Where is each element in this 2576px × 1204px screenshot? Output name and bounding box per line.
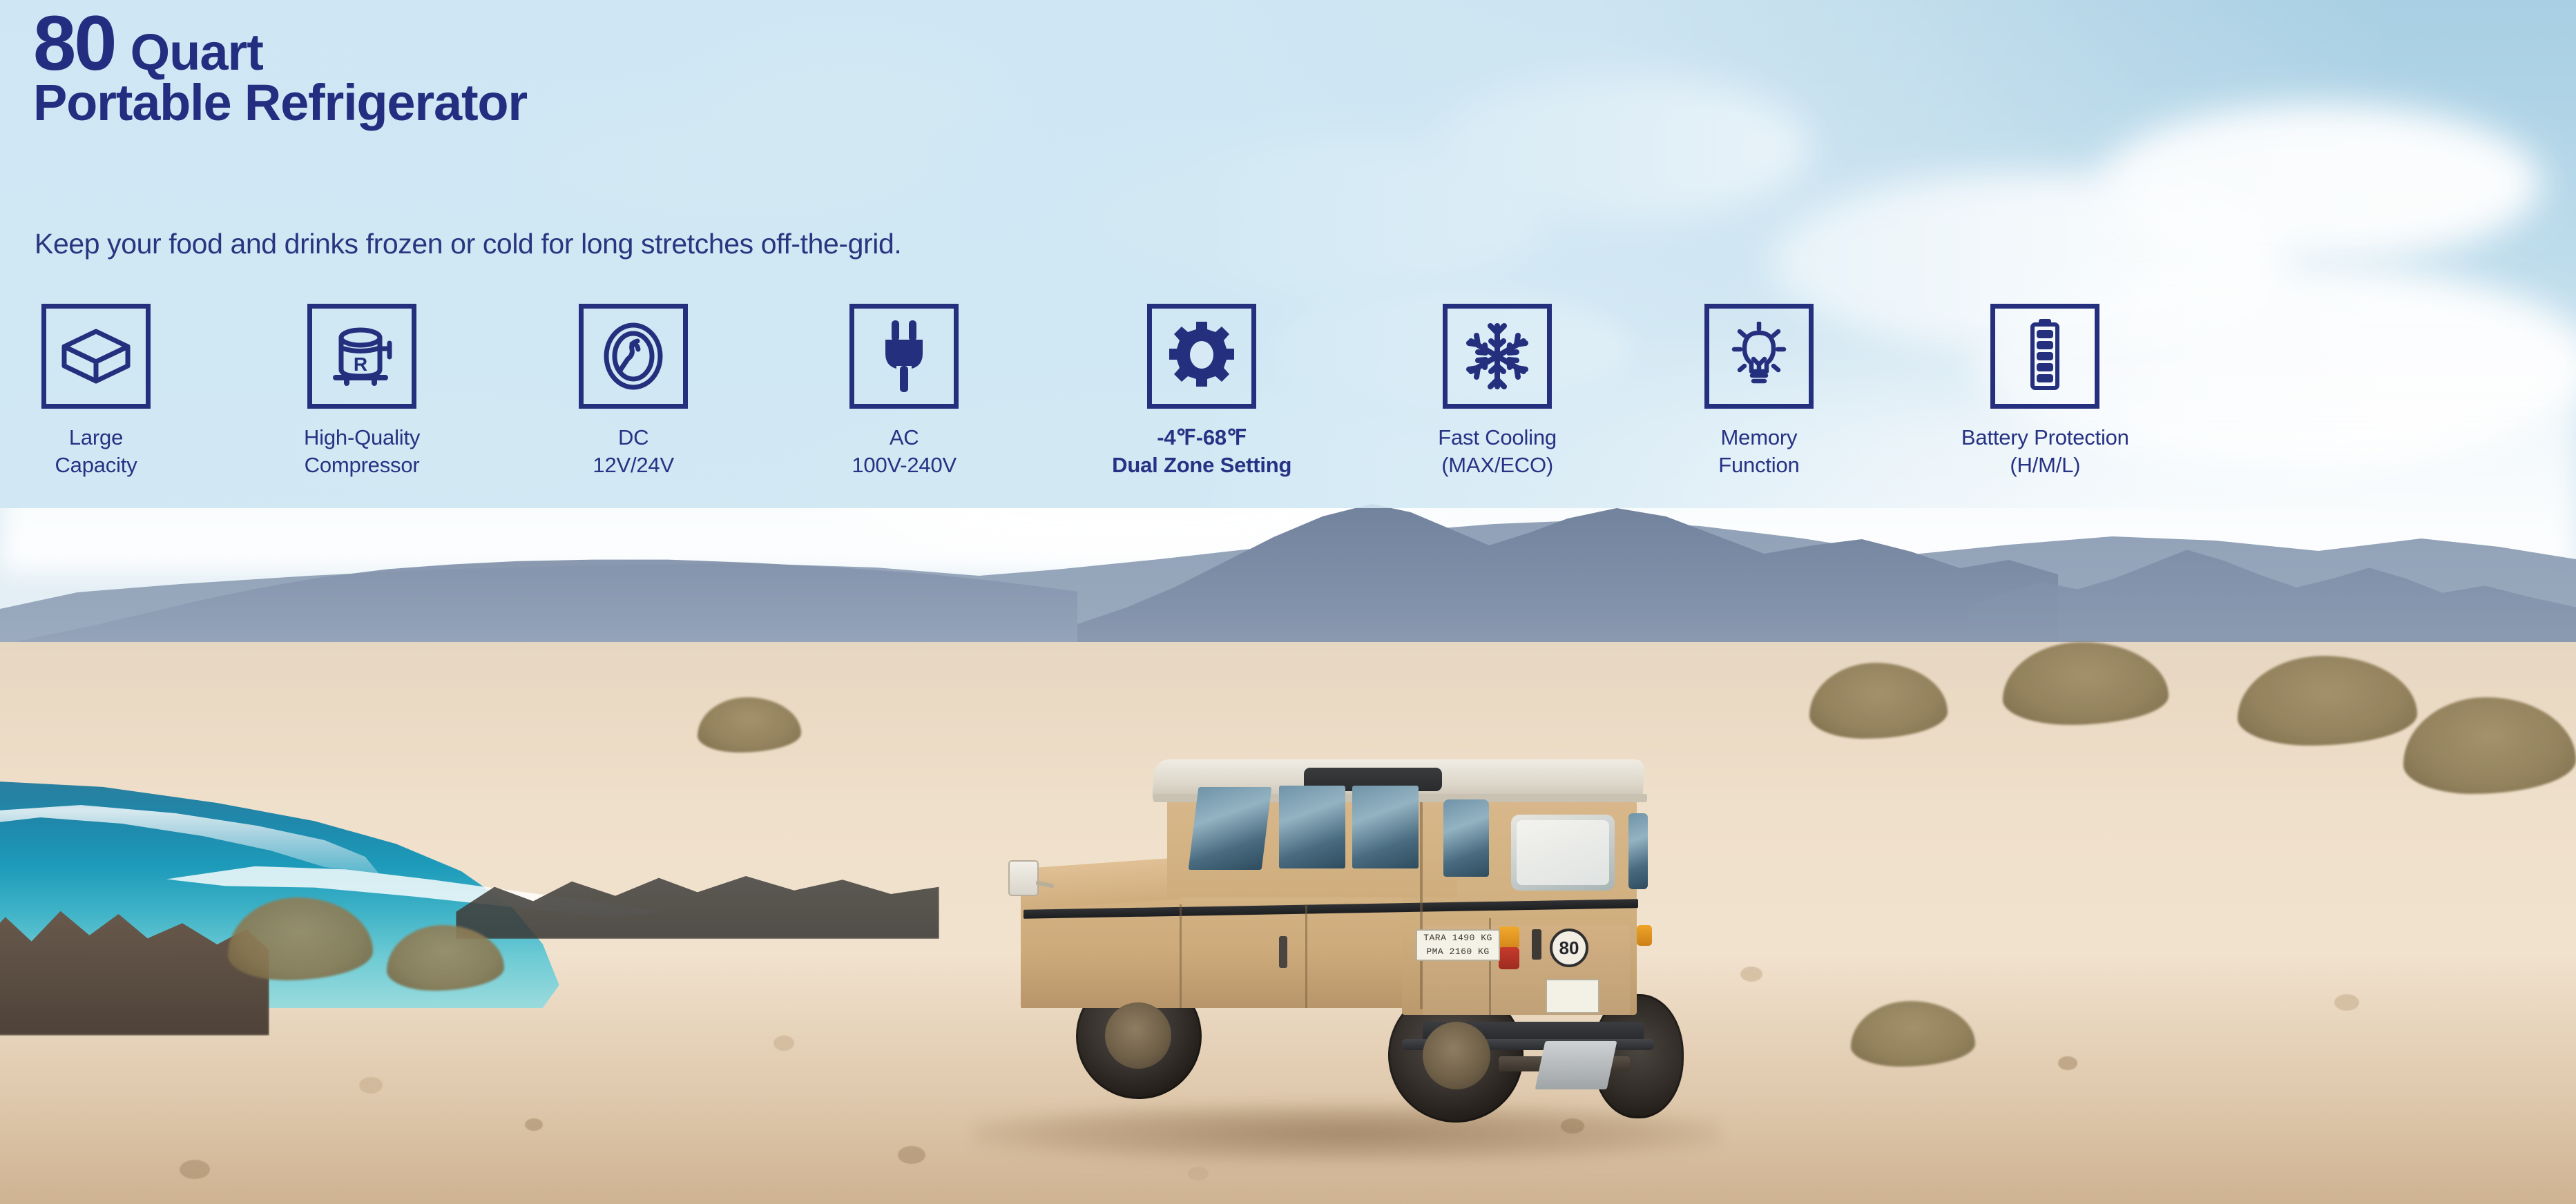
window: [1189, 787, 1272, 870]
feature-label: DC 12V/24V: [593, 424, 674, 478]
side-mirror: [1008, 860, 1039, 896]
mud-flap: [1535, 1041, 1617, 1089]
window: [1628, 813, 1648, 889]
rear-side-window: [1511, 815, 1615, 891]
temperature-range: -4℉-68℉ Dual Zone Setting: [1112, 425, 1291, 477]
feature-label: Large Capacity: [55, 424, 137, 478]
speed-limit-badge: 80: [1550, 929, 1588, 967]
feature-ac-power: AC 100V-240V: [849, 304, 959, 478]
rear-blank-plate: [1546, 979, 1599, 1013]
svg-text:R: R: [354, 353, 367, 375]
tail-lamp: [1499, 947, 1519, 969]
feature-row: Large Capacity R High-Quality Compressor: [0, 304, 2210, 497]
feature-label: Memory Function: [1718, 424, 1799, 478]
capacity-unit: Quart: [131, 26, 263, 78]
feature-battery-protection: Battery Protection (H/M/L): [1961, 304, 2129, 478]
lightbulb-icon: [1704, 304, 1814, 409]
feature-label: -4℉-68℉ Dual Zone Setting: [1112, 424, 1291, 478]
feature-label: Fast Cooling (MAX/ECO): [1438, 424, 1557, 478]
product-title: Portable Refrigerator: [33, 75, 527, 130]
capacity-number: 80: [33, 4, 115, 83]
turn-signal-lamp: [1499, 926, 1519, 949]
window: [1352, 786, 1419, 868]
vehicle-shadow: [974, 1103, 1720, 1163]
turn-signal-lamp: [1637, 925, 1652, 946]
plate-line-1: TARA 1490 KG: [1423, 933, 1492, 943]
feature-label: Battery Protection (H/M/L): [1961, 424, 2129, 478]
feature-large-capacity: Large Capacity: [41, 304, 151, 478]
front-hubcap: [1105, 1002, 1171, 1069]
feature-dc-power: DC 12V/24V: [579, 304, 688, 478]
battery-icon: [1990, 304, 2099, 409]
feature-compressor: R High-Quality Compressor: [304, 304, 420, 478]
feature-fast-cooling: Fast Cooling (MAX/ECO): [1438, 304, 1557, 478]
feature-label: AC 100V-240V: [852, 424, 957, 478]
subheadline: Keep your food and drinks frozen or cold…: [35, 228, 901, 260]
door-handle: [1279, 936, 1287, 968]
feature-dual-zone: -4℉-68℉ Dual Zone Setting: [1112, 304, 1291, 478]
snowflake-icon: [1443, 304, 1552, 409]
rear-hubcap: [1423, 1022, 1490, 1089]
feature-label: High-Quality Compressor: [304, 424, 420, 478]
window: [1279, 786, 1345, 868]
rear-door-handle: [1532, 929, 1541, 960]
product-hero-banner: TARA 1490 KG PMA 2160 KG 80 80 Quart Por…: [0, 0, 2576, 1204]
window: [1443, 799, 1489, 877]
land-rover-vehicle: TARA 1490 KG PMA 2160 KG 80: [1015, 697, 1692, 1146]
compressor-icon: R: [307, 304, 416, 409]
storage-box-icon: [41, 304, 151, 409]
plate-line-2: PMA 2160 KG: [1426, 946, 1489, 957]
weight-plate: TARA 1490 KG PMA 2160 KG: [1416, 929, 1500, 961]
dc-socket-icon: [579, 304, 688, 409]
ac-plug-icon: [849, 304, 959, 409]
feature-memory: Memory Function: [1704, 304, 1814, 478]
headline-block: 80 Quart Portable Refrigerator: [33, 4, 527, 131]
gear-icon: [1147, 304, 1256, 409]
